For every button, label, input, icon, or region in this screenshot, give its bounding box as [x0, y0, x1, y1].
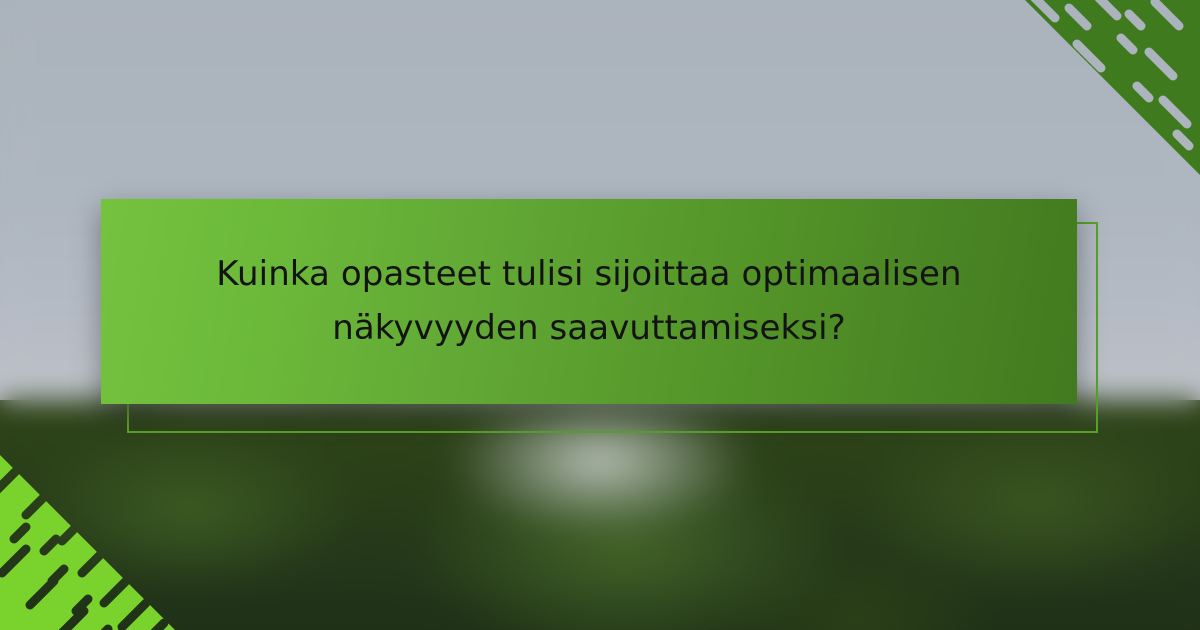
question-title: Kuinka opasteet tulisi sijoittaa optimaa…: [159, 248, 1019, 354]
corner-ornament-top-right: [1025, 0, 1200, 175]
question-card: Kuinka opasteet tulisi sijoittaa optimaa…: [101, 199, 1077, 404]
slide-canvas: Kuinka opasteet tulisi sijoittaa optimaa…: [0, 0, 1200, 630]
corner-ornament-bottom-left: [0, 455, 175, 630]
